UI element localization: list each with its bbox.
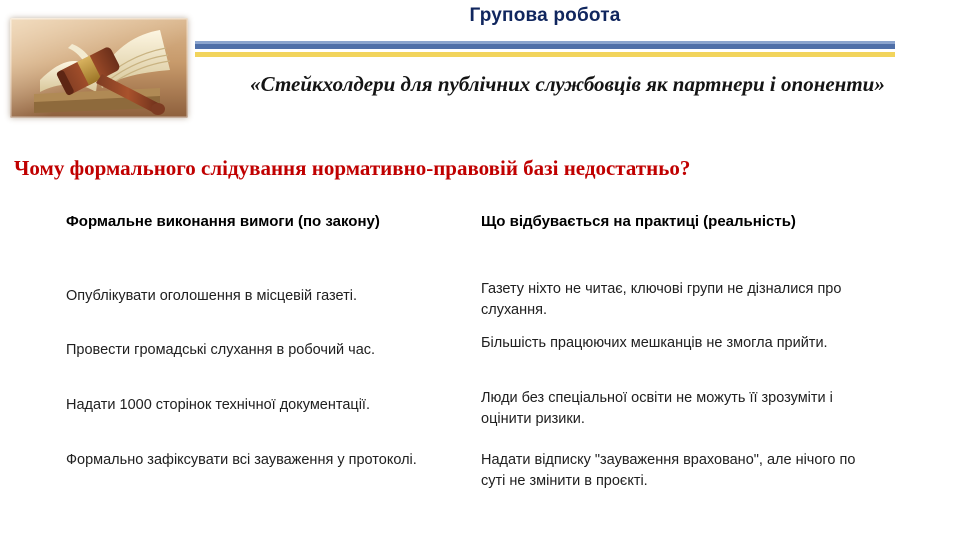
table-row: Формально зафіксувати всі зауваження у п… bbox=[66, 450, 466, 471]
slide-root: Групова робота «Стейкхолдери для публічн… bbox=[0, 0, 953, 537]
table-row: Надати відписку "зауваження враховано", … bbox=[481, 450, 871, 492]
table-column-formal: Формальне виконання вимоги (по закону) О… bbox=[66, 212, 466, 232]
column-header: Що відбувається на практиці (реальність) bbox=[481, 212, 881, 232]
table-row: Більшість працюючих мешканців не змогла … bbox=[481, 333, 871, 354]
decorative-rule-blue bbox=[195, 44, 895, 49]
question-heading: Чому формального слідування нормативно-п… bbox=[14, 156, 690, 181]
table-row: Провести громадські слухання в робочий ч… bbox=[66, 340, 466, 361]
table-row: Люди без спеціальної освіти не можуть її… bbox=[481, 388, 871, 430]
deck-subtitle: «Стейкхолдери для публічних службовців я… bbox=[195, 72, 940, 97]
gavel-on-book-photo bbox=[10, 18, 188, 118]
table-row: Газету ніхто не читає, ключові групи не … bbox=[481, 279, 871, 321]
table-row: Надати 1000 сторінок технічної документа… bbox=[66, 395, 466, 416]
page-title: Групова робота bbox=[195, 5, 895, 27]
slide-header: Групова робота «Стейкхолдери для публічн… bbox=[0, 0, 953, 135]
column-header: Формальне виконання вимоги (по закону) bbox=[66, 212, 466, 232]
table-row: Опублікувати оголошення в місцевій газет… bbox=[66, 286, 466, 307]
decorative-rule-yellow bbox=[195, 52, 895, 57]
table-column-reality: Що відбувається на практиці (реальність)… bbox=[481, 212, 881, 232]
